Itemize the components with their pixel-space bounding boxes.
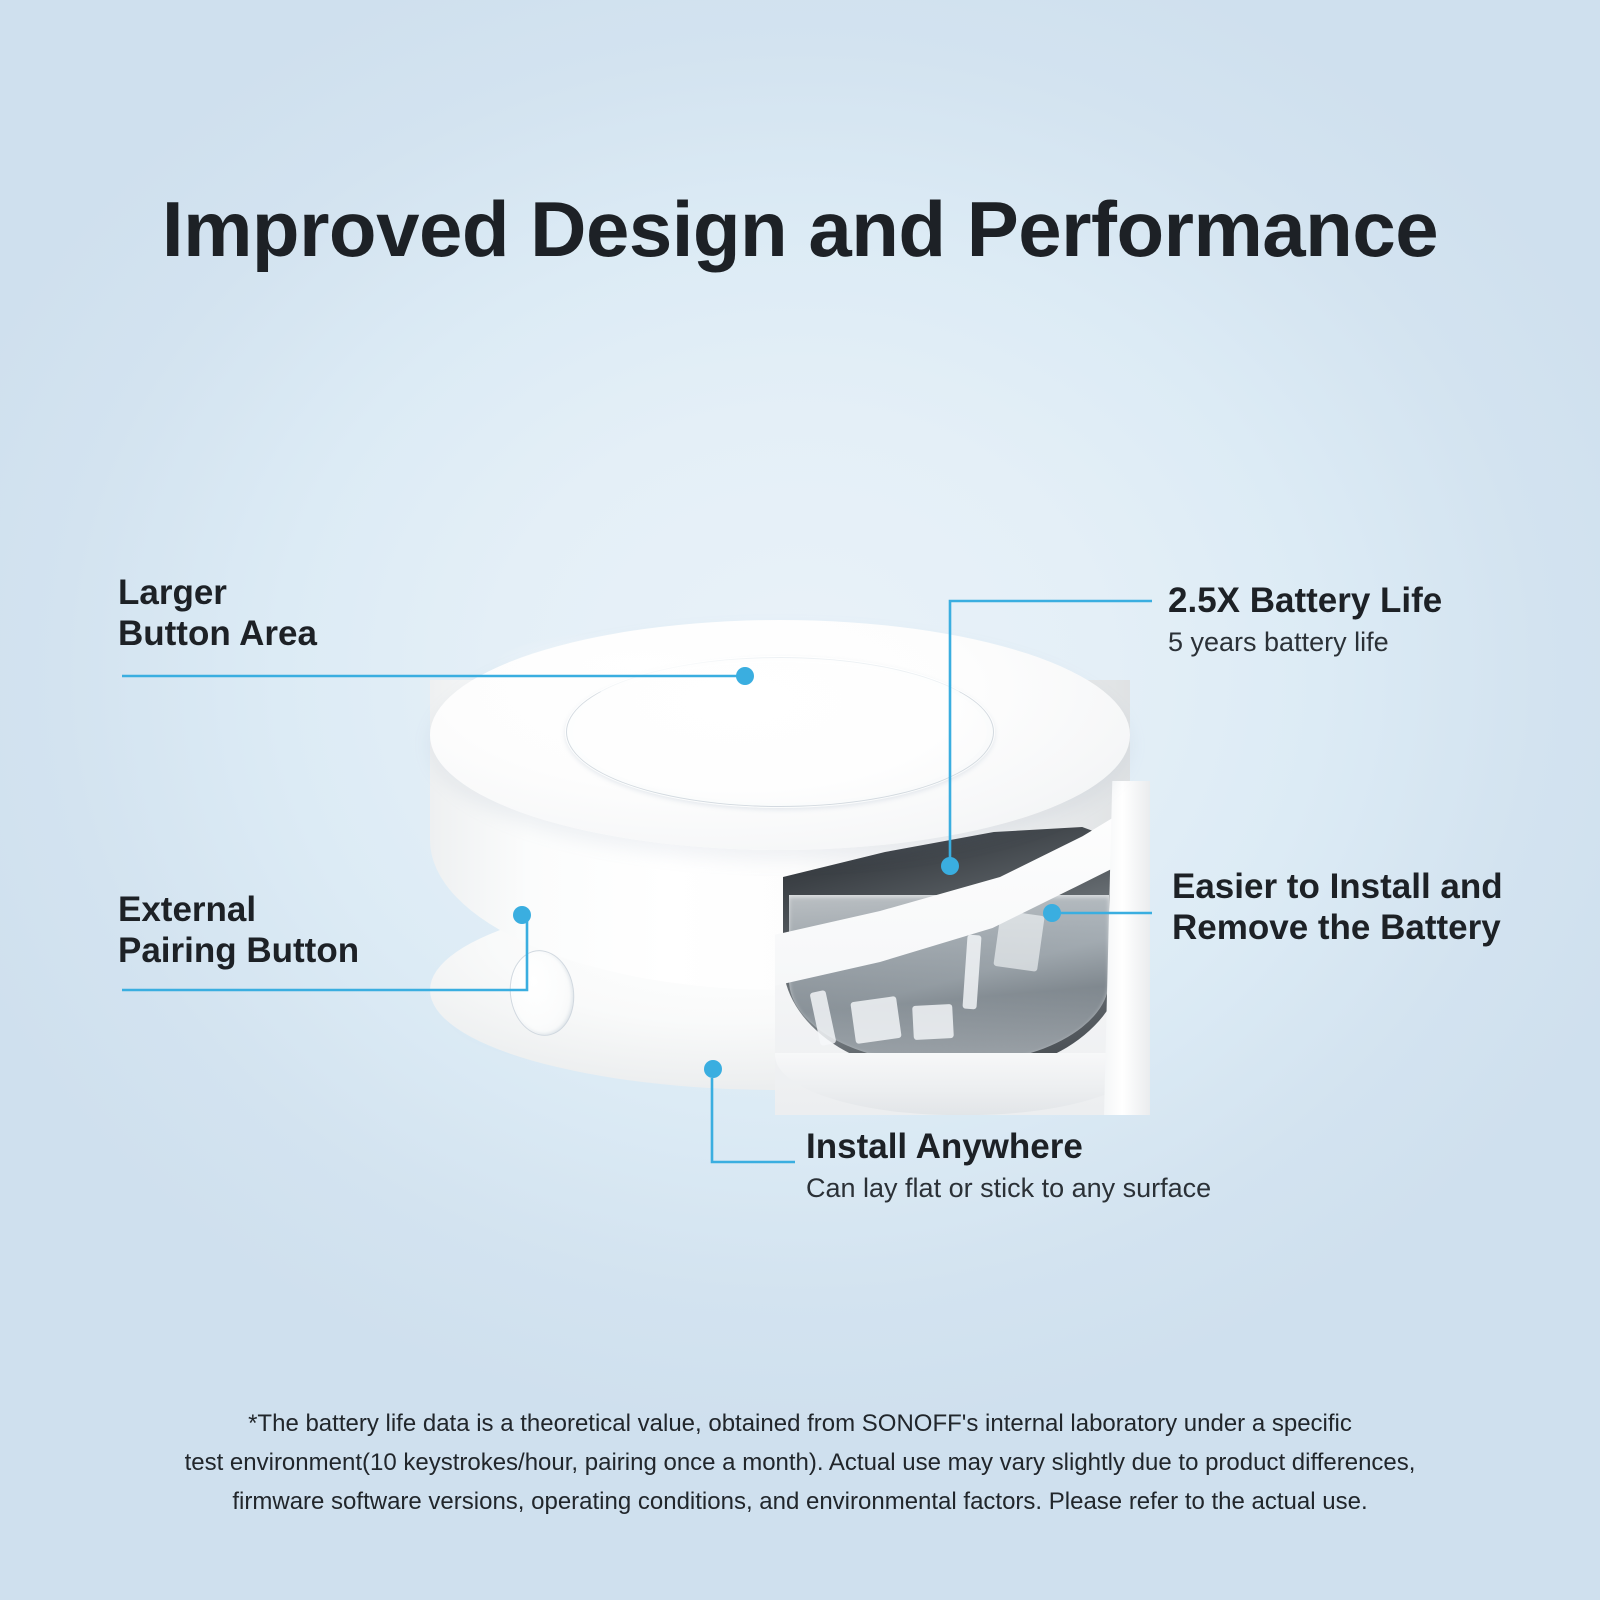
page-background: Improved Design and Performance [0,0,1600,1600]
tray-rib [850,996,901,1044]
page-title: Improved Design and Performance [0,190,1600,268]
callout-title: External Pairing Button [118,889,359,972]
footnote-line-1: *The battery life data is a theoretical … [120,1405,1480,1444]
callout-title: Easier to Install and Remove the Battery [1172,866,1503,949]
footnote-line-2: test environment(10 keystrokes/hour, pai… [120,1444,1480,1483]
callout-subtitle: Can lay flat or stick to any surface [806,1171,1211,1206]
callout-battery-life: 2.5X Battery Life 5 years battery life [1168,580,1442,660]
footnote-disclaimer: *The battery life data is a theoretical … [120,1405,1480,1522]
callout-title: Larger Button Area [118,572,317,655]
callout-easier-battery: Easier to Install and Remove the Battery [1172,866,1503,949]
tray-rib [912,1004,954,1040]
callout-larger-button-area: Larger Button Area [118,572,317,655]
tray-rib [962,935,981,1010]
callout-title: Install Anywhere [806,1126,1211,1167]
product-image [410,500,1150,1100]
callout-external-pairing-button: External Pairing Button [118,889,359,972]
footnote-line-3: firmware software versions, operating co… [120,1483,1480,1522]
callout-title: 2.5X Battery Life [1168,580,1442,621]
callout-install-anywhere: Install Anywhere Can lay flat or stick t… [806,1126,1211,1206]
device-body [430,620,1130,1060]
callout-subtitle: 5 years battery life [1168,625,1442,660]
button-cap-groove [566,657,994,807]
